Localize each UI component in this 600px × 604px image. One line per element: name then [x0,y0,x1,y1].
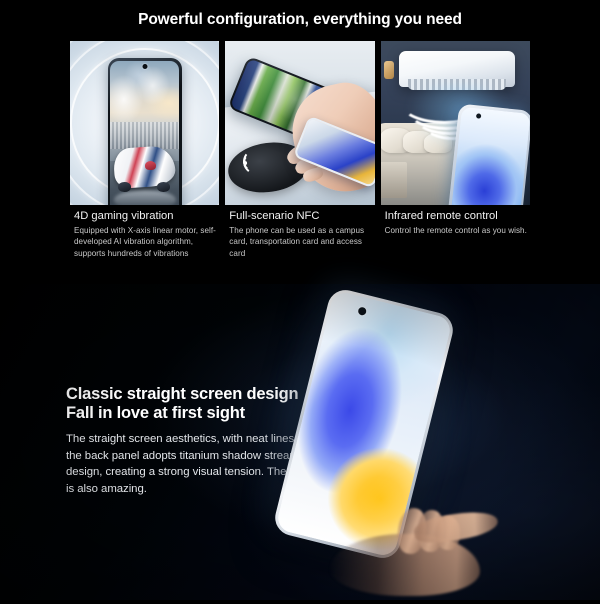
feature-card-heading: Infrared remote control [385,210,528,223]
screen-sheen [275,290,453,558]
nfc-illustration [225,41,374,205]
feature-card-heading: 4D gaming vibration [74,210,217,223]
phone-screen [450,106,530,205]
car-wheel [118,182,131,192]
hero-phone-screen [275,290,453,558]
phone-screen [110,61,179,206]
sky-clouds [110,61,179,131]
track-reflection [114,190,176,205]
lamp [384,61,394,79]
grandstand [110,122,179,149]
design-section: Classic straight screen design Fall in l… [0,284,600,600]
feature-card-heading: Full-scenario NFC [229,210,372,223]
finger [435,516,460,551]
feature-card-vibration[interactable]: 4D gaming vibration Equipped with X-axis… [70,41,219,271]
feature-card-body: Equipped with X-axis linear motor, self-… [74,225,217,259]
feature-card-body: The phone can be used as a campus card, … [229,225,372,259]
page-title: Powerful configuration, everything you n… [0,11,600,29]
finger [416,509,446,553]
feature-card-infrared[interactable]: Infrared remote control Control the remo… [381,41,530,271]
design-headline-line2: Fall in love at first sight [66,404,336,423]
feature-card-text: Infrared remote control Control the remo… [381,205,530,236]
feature-card-body: Control the remote control as you wish. [385,225,528,236]
front-camera-icon [476,113,481,118]
feature-card-text: 4D gaming vibration Equipped with X-axis… [70,205,219,259]
hero-phone-mockup [271,286,456,561]
feature-card-text: Full-scenario NFC The phone can be used … [225,205,374,259]
vibration-illustration [70,41,219,205]
nightstand [381,162,408,198]
phone-mockup [108,58,182,205]
infrared-illustration [381,41,530,205]
driver-helmet [145,161,156,170]
feature-card-list: 4D gaming vibration Equipped with X-axis… [70,41,530,271]
front-camera-icon [142,64,147,69]
thumb [412,508,499,547]
design-headline: Classic straight screen design Fall in l… [66,385,336,422]
phone-mockup [447,103,530,205]
features-section: Powerful configuration, everything you n… [0,0,600,284]
car-wheel [157,182,170,192]
nfc-wave-icon [242,147,279,175]
design-headline-line1: Classic straight screen design [66,385,336,404]
feature-card-nfc[interactable]: Full-scenario NFC The phone can be used … [225,41,374,271]
